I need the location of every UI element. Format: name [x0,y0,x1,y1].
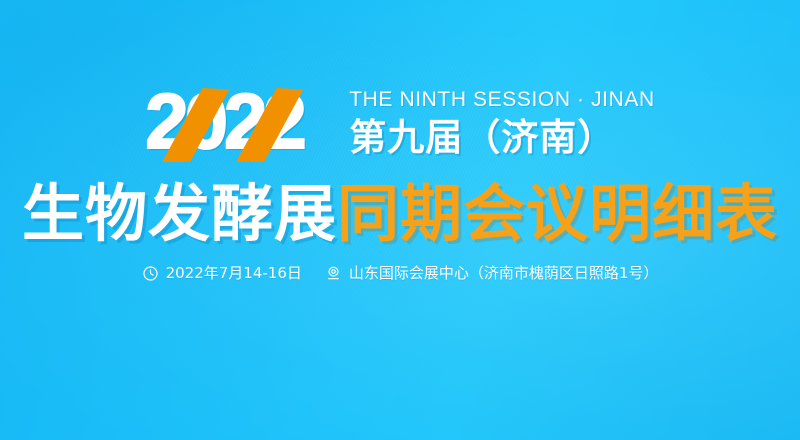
banner-content: 2022 THE NINTH SESSION · JINAN 第九届（济南） 生… [0,0,800,440]
banner-meta-row: 2022年7月14-16日 山东国际会展中心（济南市槐荫区日照路1号） [0,262,800,284]
year-logo: 2022 [145,82,335,160]
clock-icon [142,265,159,282]
event-location: 山东国际会展中心（济南市槐荫区日照路1号） [349,262,659,284]
session-block: THE NINTH SESSION · JINAN 第九届（济南） [349,82,655,160]
logo-row: 2022 THE NINTH SESSION · JINAN 第九届（济南） [0,82,800,160]
event-date: 2022年7月14-16日 [166,262,302,284]
session-chinese-label: 第九届（济南） [349,116,655,160]
session-english-label: THE NINTH SESSION · JINAN [349,88,655,112]
location-pin-icon [325,265,342,282]
event-banner: 2022 THE NINTH SESSION · JINAN 第九届（济南） 生… [0,0,800,440]
banner-headline: 生物发酵展同期会议明细表 [0,178,800,250]
headline-orange-text: 同期会议明细表 [337,177,778,250]
headline-white-text: 生物发酵展 [22,177,337,250]
